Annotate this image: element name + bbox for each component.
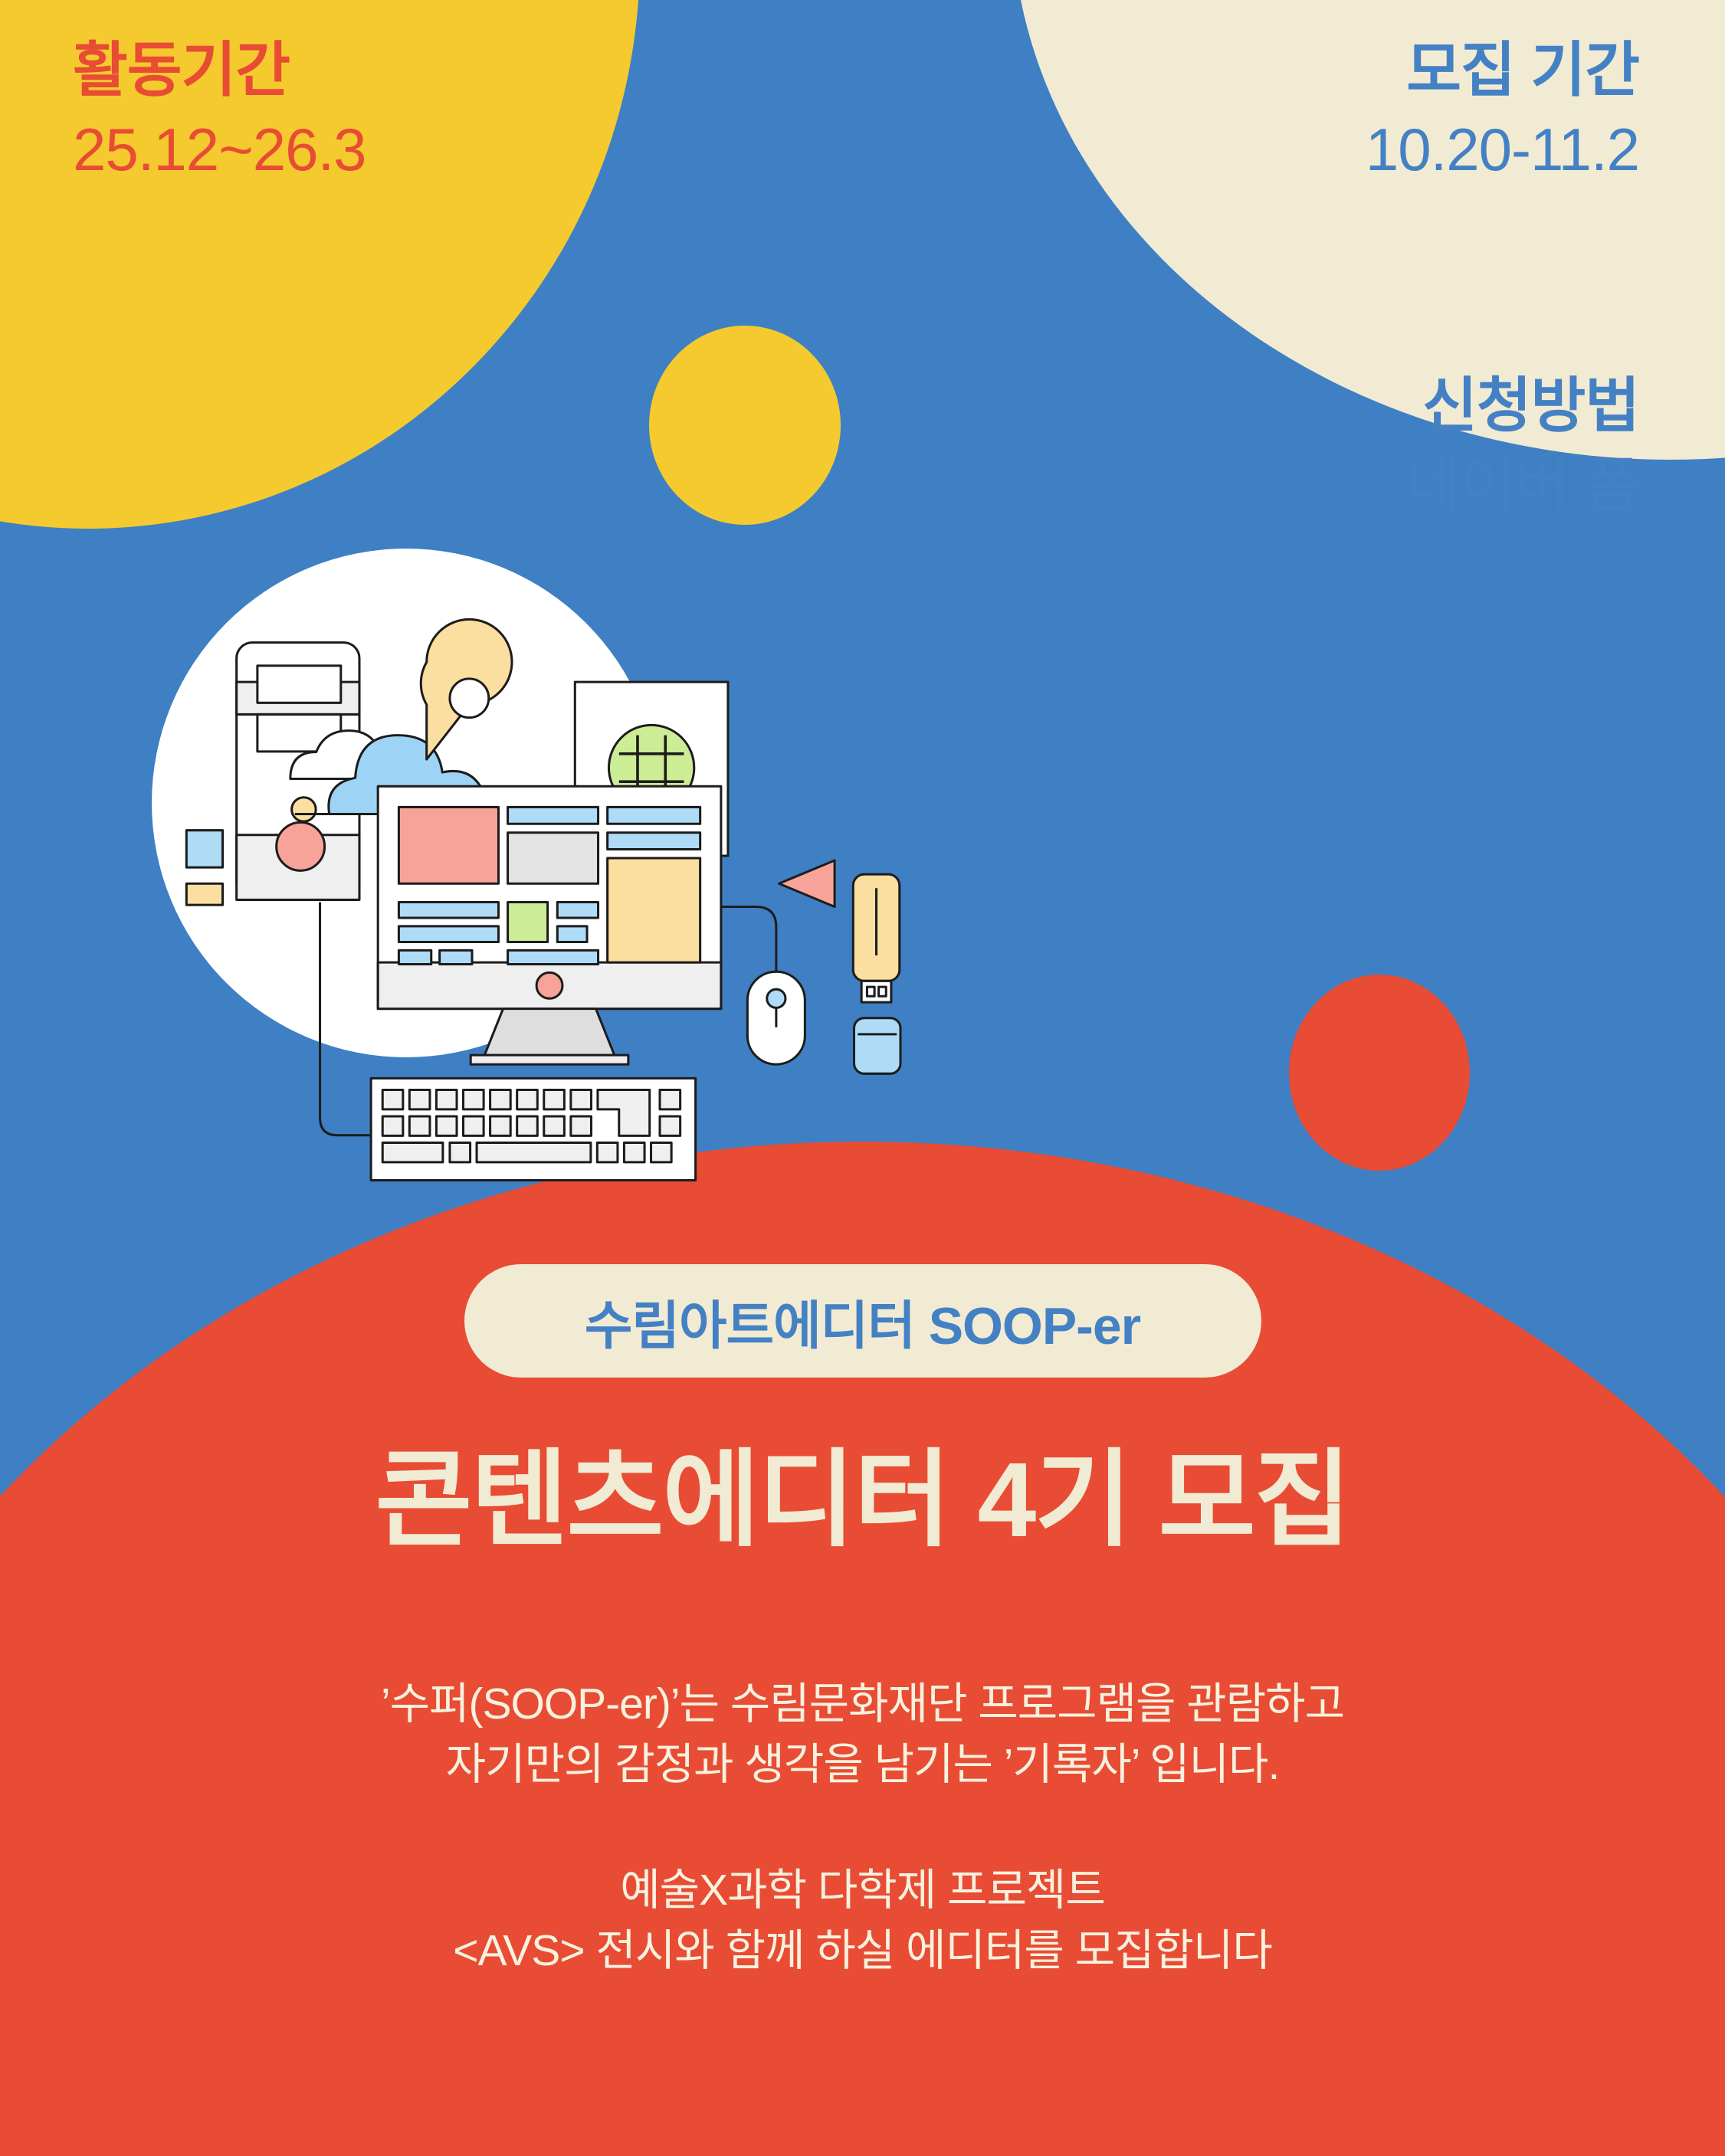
description-block: ’수퍼(SOOP-er)’는 수림문화재단 프로그램을 관람하고 자기만의 감정… bbox=[0, 1674, 1725, 1981]
description-line-1: ’수퍼(SOOP-er)’는 수림문화재단 프로그램을 관람하고 bbox=[0, 1674, 1725, 1735]
page-title: 콘텐츠에디터 4기 모집 bbox=[0, 1414, 1725, 1567]
apply-method-label: 신청방법 bbox=[1406, 375, 1639, 435]
description-line-3: 예술X과학 다학제 프로젝트 bbox=[0, 1860, 1725, 1921]
yellow-circle-small bbox=[649, 326, 841, 525]
apply-method-block: 신청방법 네이버 폼 bbox=[1406, 375, 1639, 515]
program-badge-label: 수림아트에디터 SOOP-er bbox=[585, 1283, 1140, 1359]
program-badge: 수림아트에디터 SOOP-er bbox=[464, 1264, 1261, 1378]
recruit-period-label: 모집 기간 bbox=[1366, 40, 1639, 100]
color-swatches-icon bbox=[186, 831, 222, 905]
red-circle-small bbox=[1289, 975, 1470, 1171]
blue-case-icon bbox=[854, 1018, 901, 1074]
description-line-4: <AVS> 전시와 함께 하실 에디터를 모집합니다 bbox=[0, 1921, 1725, 1981]
recruit-period-block: 모집 기간 10.20-11.2 bbox=[1366, 40, 1639, 179]
description-line-2: 자기만의 감정과 생각을 남기는 ’기록자’ 입니다. bbox=[0, 1735, 1725, 1795]
recruit-period-value: 10.20-11.2 bbox=[1366, 120, 1639, 179]
apply-method-value: 네이버 폼 bbox=[1406, 455, 1639, 515]
activity-period-block: 활동기간 25.12~26.3 bbox=[73, 40, 366, 179]
description-spacer bbox=[0, 1794, 1725, 1860]
mouse-icon bbox=[747, 972, 805, 1064]
activity-period-label: 활동기간 bbox=[73, 40, 366, 100]
keyboard-icon bbox=[371, 1078, 696, 1180]
activity-period-value: 25.12~26.3 bbox=[73, 120, 366, 179]
poster-root: 활동기간 25.12~26.3 모집 기간 10.20-11.2 신청방법 네이… bbox=[0, 0, 1725, 2156]
